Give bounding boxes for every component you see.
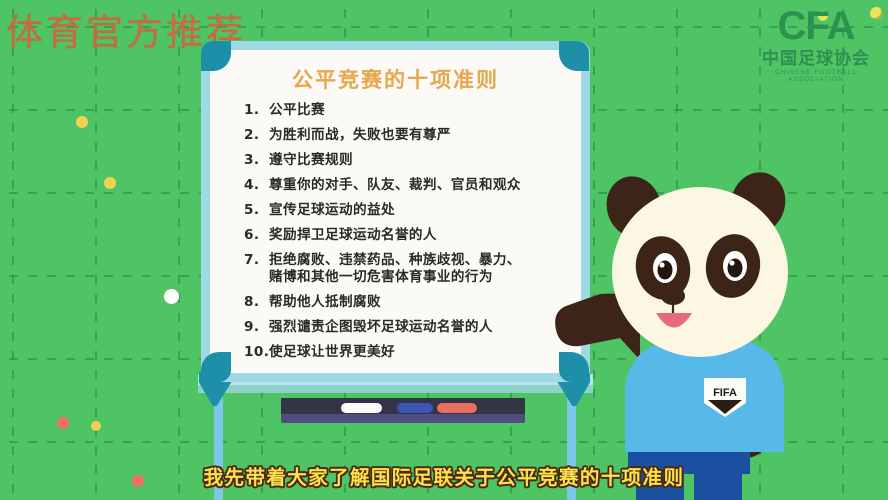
panda-nose bbox=[661, 287, 685, 305]
fifa-badge-label: FIFA bbox=[713, 387, 737, 399]
panda-pupil-left bbox=[658, 261, 673, 280]
panda-eye-glint-right bbox=[729, 260, 734, 265]
subtitle-caption: 我先带着大家了解国际足联关于公平竞赛的十项准则 bbox=[0, 461, 888, 490]
panda-pupil-right bbox=[728, 259, 743, 278]
video-frame: 体育官方推荐 CFA 中国足球协会 CHINESE FOOTBALL ASSOC… bbox=[0, 0, 888, 500]
panda-mascot: FIFA bbox=[0, 0, 888, 500]
panda-eye-glint-left bbox=[659, 262, 664, 267]
